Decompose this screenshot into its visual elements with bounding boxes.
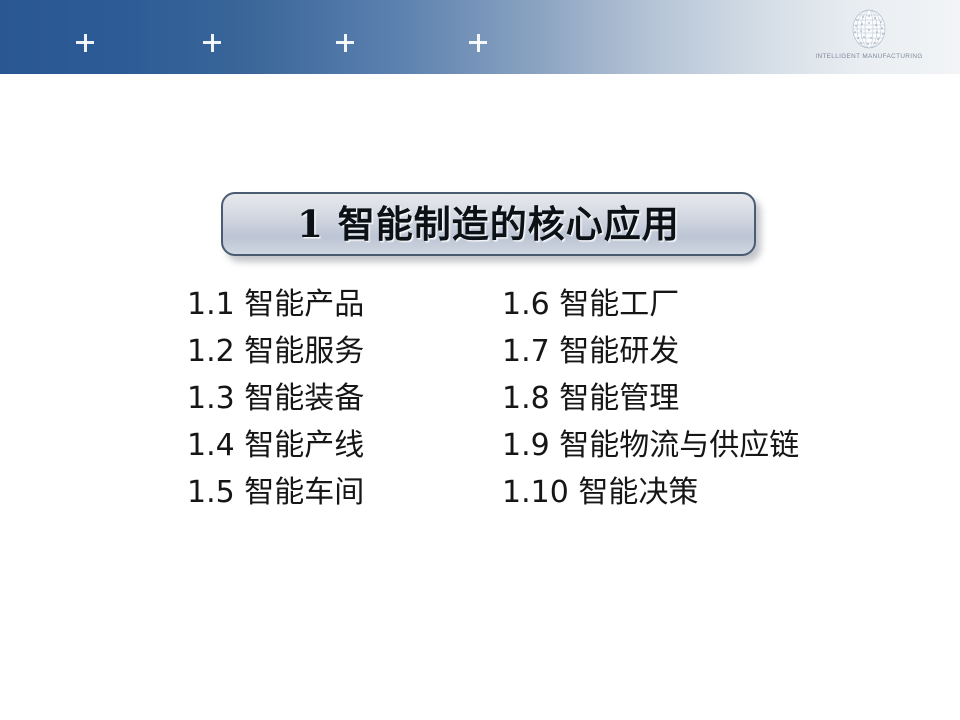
outline-row: 1.2 智能服务 1.7 智能研发	[0, 330, 960, 377]
header-band: INTELLIGENT MANUFACTURING	[0, 0, 960, 74]
outline-row: 1.3 智能装备 1.8 智能管理	[0, 377, 960, 424]
outline-row: 1.4 智能产线 1.9 智能物流与供应链	[0, 424, 960, 471]
brand-logo: INTELLIGENT MANUFACTURING	[808, 6, 930, 72]
outline-item-1-2[interactable]: 1.2 智能服务	[187, 330, 364, 374]
outline-item-1-10[interactable]: 1.10 智能决策	[502, 471, 698, 515]
outline-item-1-6[interactable]: 1.6 智能工厂	[502, 283, 679, 327]
outline-item-1-5[interactable]: 1.5 智能车间	[187, 471, 364, 515]
mesh-sphere-icon	[847, 6, 891, 52]
outline-item-1-4[interactable]: 1.4 智能产线	[187, 424, 364, 468]
outline-item-1-1[interactable]: 1.1 智能产品	[187, 283, 364, 327]
outline-item-1-9[interactable]: 1.9 智能物流与供应链	[502, 424, 799, 468]
plus-marker-3	[336, 34, 354, 52]
plus-marker-4	[469, 34, 487, 52]
outline-list: 1.1 智能产品 1.6 智能工厂 1.2 智能服务 1.7 智能研发 1.3 …	[0, 283, 960, 518]
plus-marker-1	[76, 34, 94, 52]
outline-item-1-7[interactable]: 1.7 智能研发	[502, 330, 679, 374]
outline-item-1-8[interactable]: 1.8 智能管理	[502, 377, 679, 421]
page-title: 1 智能制造的核心应用	[297, 206, 680, 243]
outline-row: 1.5 智能车间 1.10 智能决策	[0, 471, 960, 518]
outline-item-1-3[interactable]: 1.3 智能装备	[187, 377, 364, 421]
slide-title-banner: 1 智能制造的核心应用	[221, 192, 756, 256]
plus-marker-2	[203, 34, 221, 52]
outline-row: 1.1 智能产品 1.6 智能工厂	[0, 283, 960, 330]
logo-caption: INTELLIGENT MANUFACTURING	[808, 53, 930, 60]
